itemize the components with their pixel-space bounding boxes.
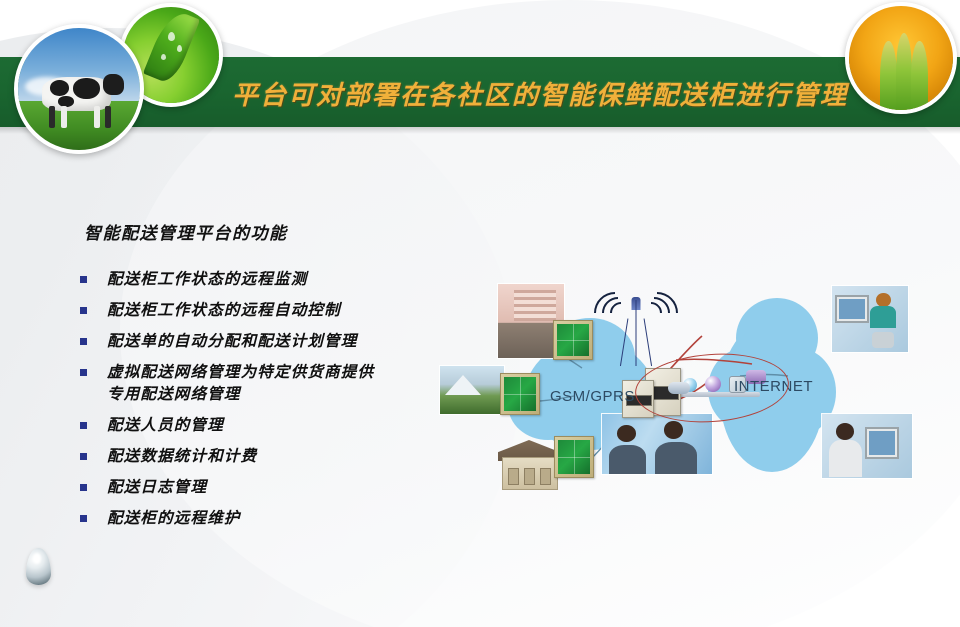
person-body-shape [870, 306, 896, 328]
cow-head-shape [103, 74, 124, 95]
cow-photo-badge [14, 24, 144, 154]
wheat-stalk-shape [896, 33, 913, 114]
list-item-label: 配送数据统计和计费 [107, 445, 257, 467]
delivery-cabinet-icon [553, 320, 593, 360]
house-icon [498, 440, 560, 490]
list-item-label: 配送柜工作状态的远程自动控制 [107, 299, 341, 321]
bullet-square-icon [80, 276, 87, 283]
person-body-shape [655, 442, 697, 474]
page-title: 平台可对部署在各社区的智能保鲜配送柜进行管理 [232, 66, 852, 120]
list-item: 配送柜的远程维护 [80, 507, 460, 529]
cabinet-door-shape [557, 324, 589, 356]
delivery-cabinet-icon [554, 436, 594, 478]
list-item-label: 配送人员的管理 [107, 414, 224, 436]
house-window-shape [540, 468, 551, 485]
person-head-shape [617, 425, 636, 442]
mountain-peak-shape [445, 375, 481, 395]
list-item-label: 配送单的自动分配和配送计划管理 [107, 330, 358, 352]
person-head-shape [664, 421, 684, 439]
cow-leg-shape [61, 106, 67, 128]
bullet-square-icon [80, 453, 87, 460]
delivery-cabinet-icon [500, 373, 540, 415]
monitor-icon [835, 295, 869, 323]
cow-leg-shape [105, 106, 111, 128]
cabinet-door-shape [558, 440, 590, 474]
monitor-icon [865, 427, 900, 459]
person-head-shape [836, 423, 854, 440]
house-window-shape [524, 468, 535, 485]
list-item: 配送人员的管理 [80, 414, 460, 436]
list-item-label: 配送日志管理 [107, 476, 207, 498]
list-item: 配送柜工作状态的远程监测 [80, 268, 460, 290]
wheat-stalk-shape [880, 41, 897, 114]
office-chair-shape [872, 332, 895, 348]
title-banner-shadow [0, 127, 960, 134]
leaf-droplet-icon [177, 45, 182, 52]
bullet-square-icon [80, 422, 87, 429]
wheat-stalk-shape [911, 41, 928, 114]
list-item: 配送柜工作状态的远程自动控制 [80, 299, 460, 321]
leaf-droplet-icon [168, 32, 175, 41]
rural-village-photo [440, 366, 504, 414]
section-heading: 智能配送管理平台的功能 [84, 219, 288, 244]
bullet-square-icon [80, 338, 87, 345]
list-item-label: 配送柜的远程维护 [107, 507, 241, 529]
person-head-shape [876, 293, 891, 308]
list-item: 配送单的自动分配和配送计划管理 [80, 330, 460, 352]
person-body-shape [829, 440, 861, 477]
bullet-square-icon [80, 515, 87, 522]
slide-root: 平台可对部署在各社区的智能保鲜配送柜进行管理 智能配送管理平台的功能 [0, 0, 960, 627]
list-item-label: 配送柜工作状态的远程监测 [107, 268, 307, 290]
list-item-label: 虚拟配送网络管理为特定供货商提供 专用配送网络管理 [107, 361, 374, 405]
gsm-cloud-label: GSM/GPRS [550, 388, 635, 405]
building-windows-pattern [514, 290, 556, 321]
list-item: 虚拟配送网络管理为特定供货商提供 专用配送网络管理 [80, 361, 460, 405]
bullet-square-icon [80, 484, 87, 491]
bullet-square-icon [80, 307, 87, 314]
cow-leg-shape [94, 106, 100, 128]
cow-leg-shape [49, 106, 55, 128]
cell-tower-icon [616, 300, 656, 366]
bullet-square-icon [80, 369, 87, 376]
person-body-shape [609, 445, 646, 474]
office-worker-photo [832, 286, 908, 352]
network-topology-diagram: GSM/GPRS INTERNET [440, 278, 945, 513]
cow-spot-shape [73, 78, 100, 99]
cabinet-door-shape [504, 377, 536, 411]
list-item: 配送日志管理 [80, 476, 460, 498]
wheat-photo-badge [845, 2, 957, 114]
house-window-shape [508, 468, 519, 485]
feature-bullet-list: 配送柜工作状态的远程监测 配送柜工作状态的远程自动控制 配送单的自动分配和配送计… [80, 268, 460, 538]
field-staff-photo [602, 414, 712, 474]
list-item: 配送数据统计和计费 [80, 445, 460, 467]
remote-user-photo [822, 414, 912, 478]
